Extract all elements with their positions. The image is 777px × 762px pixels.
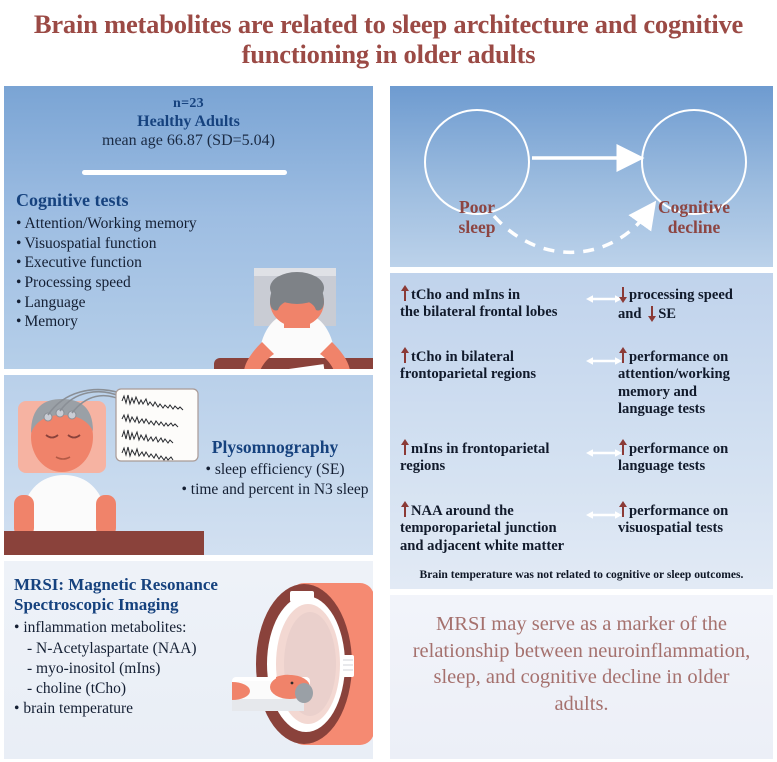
list-item: •Executive function (16, 253, 238, 273)
dash-icon: - (27, 640, 32, 657)
dash-icon: - (27, 680, 32, 697)
arrow-up-icon (400, 501, 409, 518)
finding-left: NAA around the temporoparietal junction … (400, 501, 590, 555)
node-poor-sleep-line2: sleep (422, 218, 532, 238)
finding-right-line3: memory and (618, 384, 697, 400)
list-item: - myo-inositol (mIns) (14, 659, 249, 679)
conclusion-panel: MRSI may serve as a marker of the relati… (390, 595, 773, 759)
cognitive-tests-title: Cognitive tests (16, 190, 238, 211)
finding-right-line2: language tests (618, 458, 705, 474)
conclusion-text: MRSI may serve as a marker of the relati… (406, 611, 757, 718)
polysomnography-title: Plysomnography (179, 437, 371, 458)
node-poor-sleep-line1: Poor (422, 198, 532, 218)
arrow-up-icon (618, 347, 627, 364)
finding-right-line4: language tests (618, 401, 705, 417)
bidirectional-arrow-icon (586, 509, 622, 521)
list-item-label: N-Acetylaspartate (NAA) (36, 640, 197, 657)
participants-summary: n=23 Healthy Adults mean age 66.87 (SD=5… (4, 96, 373, 150)
list-item-label: brain temperature (23, 700, 133, 717)
list-item-label: Memory (24, 313, 77, 330)
list-item-label: myo-inositol (mIns) (36, 660, 160, 677)
bullet-icon: • (181, 481, 186, 498)
bullet-icon: • (16, 235, 21, 252)
list-item-label: Language (24, 294, 85, 311)
list-item-label: Attention/Working memory (24, 215, 196, 232)
finding-left-line1: tCho and mIns in (411, 287, 520, 303)
list-item: • time and percent in N3 sleep (179, 480, 371, 500)
list-item: •Memory (16, 312, 238, 332)
mrsi-text-block: MRSI: Magnetic Resonance Spectroscopic I… (14, 575, 249, 719)
bidirectional-arrow-icon (586, 293, 622, 305)
bidirectional-arrow-icon (586, 355, 622, 367)
cognitive-testing-illustration: 87 93 45 6 (210, 268, 373, 369)
arrow-down-icon (618, 285, 627, 302)
mri-scanner-illustration (232, 569, 373, 759)
finding-left: tCho in bilateral frontoparietal regions (400, 347, 590, 384)
node-cognitive-decline-line1: Cognitive (635, 198, 753, 218)
list-item: •Visuospatial function (16, 234, 238, 254)
finding-left-line2: frontoparietal regions (400, 366, 536, 382)
node-cognitive-decline: Cognitive decline (635, 198, 753, 237)
mrsi-title-line2: Spectroscopic Imaging (14, 595, 249, 615)
mrsi-panel: MRSI: Magnetic Resonance Spectroscopic I… (4, 561, 373, 759)
finding-right-line1: performance on (629, 441, 728, 457)
arrow-up-icon (400, 439, 409, 456)
finding-right-line1: processing speed (629, 287, 733, 303)
header-banner: Brain metabolites are related to sleep a… (0, 0, 777, 80)
model-diagram (390, 86, 773, 267)
list-item-label: Executive function (24, 254, 142, 271)
mean-age-label: mean age 66.87 (SD=5.04) (4, 132, 373, 150)
finding-left-line2: the bilateral frontal lobes (400, 304, 557, 320)
bullet-icon: • (16, 215, 21, 232)
participant-group-label: Healthy Adults (4, 113, 373, 131)
bullet-icon: • (16, 254, 21, 271)
dash-icon: - (27, 660, 32, 677)
sleep-eeg-illustration (4, 375, 204, 555)
list-item-label: Visuospatial function (24, 235, 156, 252)
arrow-up-icon (618, 439, 627, 456)
node-cognitive-decline-line2: decline (635, 218, 753, 238)
mrsi-title: MRSI: Magnetic Resonance Spectroscopic I… (14, 575, 249, 614)
mrsi-title-line1: MRSI: Magnetic Resonance (14, 575, 249, 595)
list-item: • sleep efficiency (SE) (179, 460, 371, 480)
finding-right-line2-suffix: SE (658, 306, 676, 322)
list-item: •Attention/Working memory (16, 214, 238, 234)
finding-left-line3: and adjacent white matter (400, 538, 564, 554)
finding-right-line2: visuospatial tests (618, 520, 723, 536)
sample-size-label: n=23 (4, 96, 373, 112)
arrow-down-icon (647, 304, 656, 321)
cognitive-tests-block: Cognitive tests •Attention/Working memor… (16, 190, 238, 332)
bullet-icon: • (14, 700, 19, 717)
finding-left-line1: NAA around the (411, 503, 514, 519)
polysomnography-text-block: Plysomnography • sleep efficiency (SE) •… (179, 437, 371, 499)
list-item-label: choline (tCho) (36, 680, 126, 697)
finding-left: tCho and mIns in the bilateral frontal l… (400, 285, 590, 322)
list-item: - N-Acetylaspartate (NAA) (14, 639, 249, 659)
brain-temperature-note: Brain temperature was not related to cog… (390, 568, 773, 581)
bidirectional-arrow-icon (586, 447, 622, 459)
arrow-up-icon (618, 501, 627, 518)
polysomnography-panel: Plysomnography • sleep efficiency (SE) •… (4, 375, 373, 555)
list-item-label: Processing speed (24, 274, 130, 291)
conceptual-model-panel: Poor sleep Cognitive decline Neuroinflam… (390, 86, 773, 267)
bullet-icon: • (16, 274, 21, 291)
finding-right-line2-prefix: and (618, 306, 645, 322)
findings-panel: tCho and mIns in the bilateral frontal l… (390, 273, 773, 589)
list-item: •Language (16, 293, 238, 313)
bullet-icon: • (14, 619, 19, 636)
finding-left-line2: temporoparietal junction (400, 520, 557, 536)
node-poor-sleep: Poor sleep (422, 198, 532, 237)
list-item-label: inflammation metabolites: (23, 619, 186, 636)
finding-left-line1: mIns in frontoparietal (411, 441, 549, 457)
finding-left-line1: tCho in bilateral (411, 349, 514, 365)
finding-left: mIns in frontoparietal regions (400, 439, 590, 476)
divider-rule (82, 170, 287, 175)
participants-panel: n=23 Healthy Adults mean age 66.87 (SD=5… (4, 86, 373, 369)
arrow-up-icon (400, 285, 409, 302)
finding-right: processing speed and SE (618, 285, 768, 324)
finding-right: performance on visuospatial tests (618, 501, 768, 538)
finding-right: performance on language tests (618, 439, 768, 476)
finding-right-line1: performance on (629, 349, 728, 365)
arrow-up-icon (400, 347, 409, 364)
page-title: Brain metabolites are related to sleep a… (19, 10, 759, 70)
finding-left-line2: regions (400, 458, 445, 474)
list-item: •Processing speed (16, 273, 238, 293)
list-item: - choline (tCho) (14, 679, 249, 699)
bullet-icon: • (206, 461, 211, 478)
bullet-icon: • (16, 294, 21, 311)
bullet-icon: • (16, 313, 21, 330)
finding-right-line1: performance on (629, 503, 728, 519)
list-item: • brain temperature (14, 699, 249, 719)
list-item-label: sleep efficiency (SE) (215, 461, 345, 478)
list-item-label: time and percent in N3 sleep (191, 481, 369, 498)
finding-right-line2: attention/working (618, 366, 730, 382)
finding-right: performance on attention/working memory … (618, 347, 768, 418)
list-item: • inflammation metabolites: (14, 618, 249, 638)
